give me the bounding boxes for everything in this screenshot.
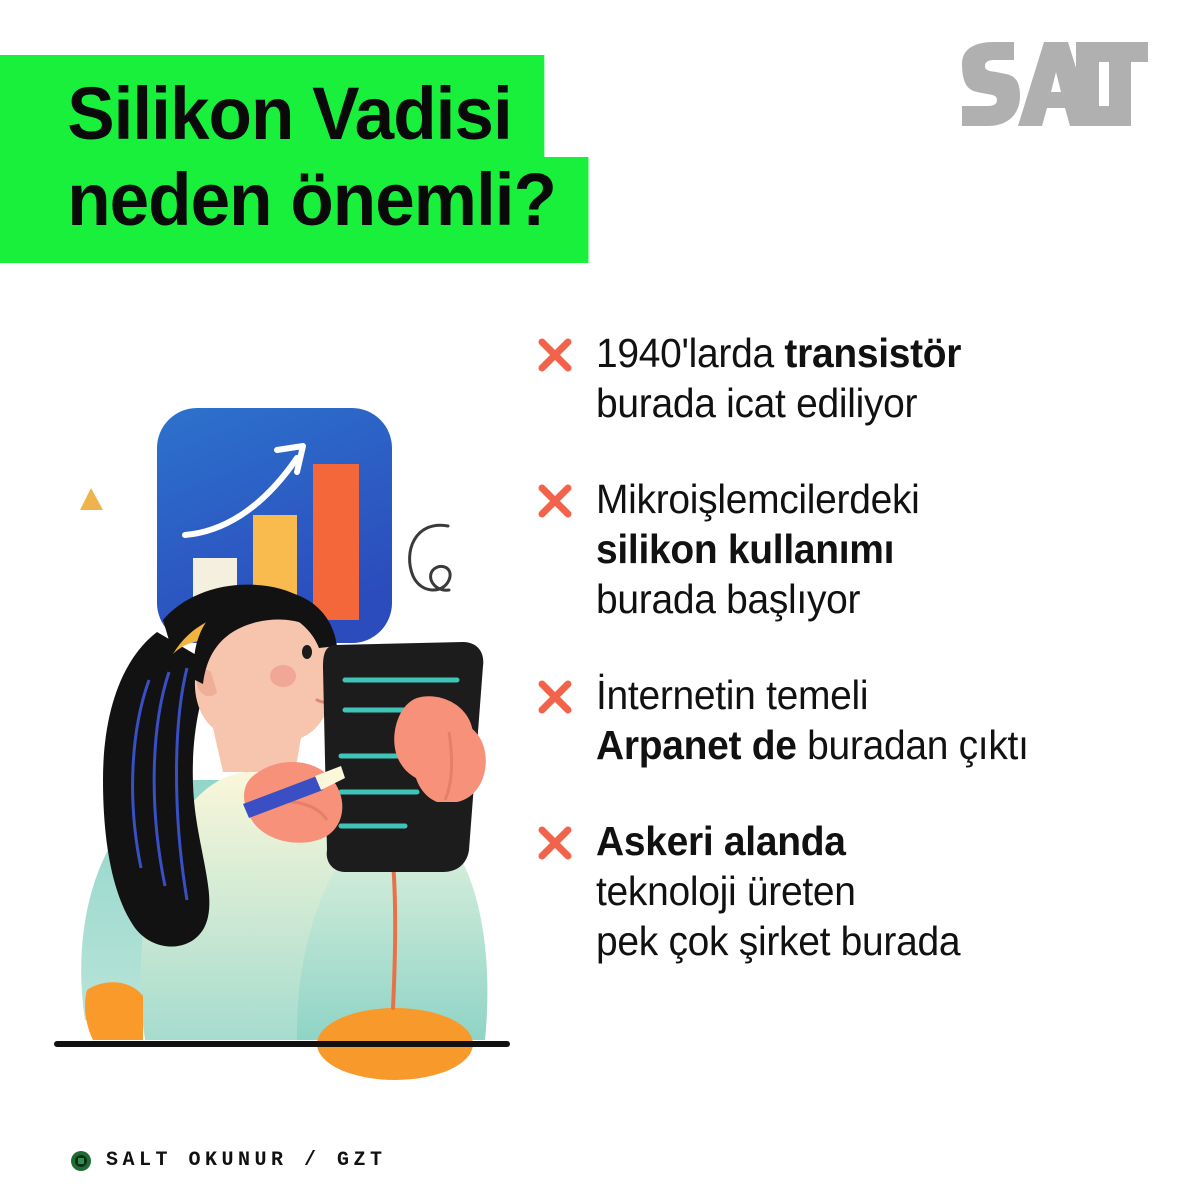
- salt-logo: [958, 38, 1148, 130]
- x-mark-icon: [536, 824, 574, 862]
- triangle-decoration: [80, 488, 103, 510]
- list-item-text: 1940'larda transistör burada icat ediliy…: [596, 328, 961, 428]
- x-mark-icon: [536, 336, 574, 374]
- list-item-text: Askeri alanda teknoloji üreten pek çok ş…: [596, 816, 960, 966]
- list-item-text: Mikroişlemcilerdeki silikon kullanımı bu…: [596, 474, 920, 624]
- list-item-text: İnternetin temeli Arpanet de buradan çık…: [596, 670, 1029, 770]
- x-mark-icon: [536, 482, 574, 520]
- text-run: Mikroişlemcilerdeki: [596, 476, 920, 522]
- page-title-line-1: Silikon Vadisi: [0, 55, 544, 157]
- text-run: buradan çıktı: [797, 722, 1029, 768]
- text-run-bold: Askeri alanda: [596, 818, 846, 864]
- list-item: Askeri alanda teknoloji üreten pek çok ş…: [536, 816, 1186, 966]
- text-run: pek çok şirket burada: [596, 918, 960, 964]
- text-run-bold: Arpanet de: [596, 722, 797, 768]
- footer: SALT OKUNUR / GZT: [70, 1149, 387, 1172]
- text-run: 1940'larda: [596, 330, 784, 376]
- text-run: İnternetin temeli: [596, 672, 868, 718]
- x-mark-icon: [536, 678, 574, 716]
- illustration-woman-with-tablet: [45, 380, 525, 1080]
- bullet-list: 1940'larda transistör burada icat ediliy…: [536, 328, 1186, 966]
- page-title-line-2: neden önemli?: [0, 157, 589, 263]
- squiggle-decoration: [410, 525, 451, 590]
- text-run-bold: transistör: [784, 330, 961, 376]
- text-run-bold: silikon kullanımı: [596, 526, 894, 572]
- text-run: burada başlıyor: [596, 576, 860, 622]
- salt-circle-icon: [70, 1150, 92, 1172]
- list-item: İnternetin temeli Arpanet de buradan çık…: [536, 670, 1186, 770]
- page-title: Silikon Vadisi neden önemli?: [0, 55, 660, 263]
- list-item: 1940'larda transistör burada icat ediliy…: [536, 328, 1186, 428]
- text-run: teknoloji üreten: [596, 868, 856, 914]
- text-run: burada icat ediliyor: [596, 380, 917, 426]
- footer-credit: SALT OKUNUR / GZT: [106, 1149, 387, 1172]
- list-item: Mikroişlemcilerdeki silikon kullanımı bu…: [536, 474, 1186, 624]
